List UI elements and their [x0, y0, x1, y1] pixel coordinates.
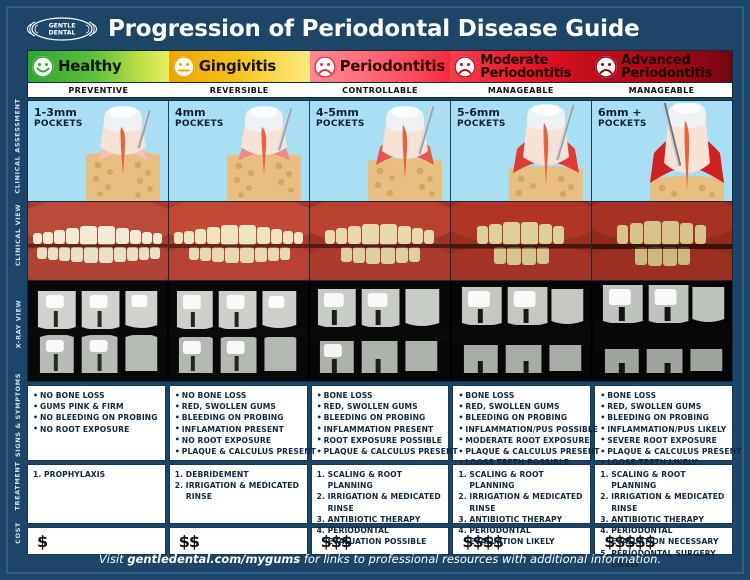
cost-value: $$	[179, 532, 199, 551]
pocket-depth-moderate: 5-6mm POCKETS	[457, 107, 506, 129]
curability-preventive: PREVENTIVE	[28, 83, 169, 97]
smiley-sad-icon	[454, 56, 476, 78]
pocket-depth-label: POCKETS	[457, 119, 506, 129]
treatment-healthy: Prophylaxis	[27, 464, 166, 524]
symptom-item: No bleeding on probing	[33, 412, 162, 423]
symptom-item: No bone loss	[33, 390, 162, 401]
footer-suffix: for links to professional resources with…	[300, 552, 661, 566]
treatment-item: Debridement	[175, 469, 304, 480]
xray-gingivitis	[169, 281, 310, 381]
stage-label-moderate-periodontitis: Moderate Periodontitis	[480, 54, 571, 80]
tooth-cross-section-diagram	[362, 103, 448, 201]
assessment-cell-advanced-periodontitis: 6mm + POCKETS	[592, 101, 732, 201]
treatment-item: Scaling & root planning	[600, 469, 729, 491]
smiley-neutral-icon	[173, 56, 195, 78]
symptom-item: Inflamation present	[175, 424, 304, 435]
symptoms-periodontitis: Bone lossRed, swollen gumsBleeding on pr…	[311, 385, 450, 461]
stage-header-row: Healthy Gingivitis	[27, 50, 733, 83]
clinical-photo-gingivitis	[169, 202, 310, 280]
symptom-item: Inflammation present	[317, 424, 446, 435]
symptom-item: Bone loss	[458, 390, 587, 401]
stage-header-advanced-periodontitis[interactable]: Advanced Periodontitis	[591, 51, 732, 82]
rail-label-clinical-assessment: CLINICAL ASSESSMENT	[8, 96, 28, 196]
treatment-row: Prophylaxis DebridementIrrigation & medi…	[27, 464, 733, 524]
footer-prefix: Visit	[99, 552, 127, 566]
treatment-item: Antibiotic therapy	[600, 514, 729, 525]
symptom-item: Bleeding on probing	[600, 412, 729, 423]
clinical-assessment-row: 1-3mm POCKETS	[27, 100, 733, 202]
xray-periodontitis	[310, 281, 451, 381]
pocket-depth-label: POCKETS	[175, 119, 224, 129]
assessment-cell-healthy: 1-3mm POCKETS	[28, 101, 169, 201]
symptom-item: Bleeding on probing	[317, 412, 446, 423]
footer: Visit gentledental.com/mygums for links …	[27, 550, 733, 568]
treatment-item: Periodontal evaluation NECESSARY	[600, 525, 729, 547]
symptom-item: No bone loss	[175, 390, 304, 401]
curability-controllable: CONTROLLABLE	[310, 83, 451, 97]
symptom-item: Inflammation/pus LIKELY	[600, 424, 729, 435]
curability-manageable-advanced: MANAGEABLE	[591, 83, 732, 97]
signs-symptoms-row: No bone lossGums pink & firmNo bleeding …	[27, 385, 733, 461]
symptom-item: No root exposure	[175, 435, 304, 446]
stage-label-healthy: Healthy	[58, 59, 122, 74]
assessment-cell-gingivitis: 4mm POCKETS	[169, 101, 310, 201]
symptom-item: Bleeding on probing	[175, 412, 304, 423]
cost-value: $	[37, 532, 47, 551]
stage-grid: Healthy Gingivitis	[27, 50, 733, 555]
treatment-item: Prophylaxis	[33, 469, 162, 480]
curability-reversible: REVERSIBLE	[169, 83, 310, 97]
treatment-item: Irrigation & medicated rinse	[175, 480, 304, 502]
symptoms-moderate-periodontitis: Bone lossRed, swollen gumsBleeding on pr…	[452, 385, 591, 461]
treatment-item: Irrigation & medicated rinse	[600, 491, 729, 513]
treatment-item: Antibiotic therapy	[317, 514, 446, 525]
logo-line1-text: GENTLE	[49, 23, 76, 30]
symptom-item: Red, swollen gums	[600, 401, 729, 412]
treatment-item: Irrigation & medicated rinse	[458, 491, 587, 513]
symptoms-advanced-periodontitis: Bone lossRed, swollen gumsBleeding on pr…	[594, 385, 733, 461]
symptom-item: Red, swollen gums	[175, 401, 304, 412]
pocket-depth-healthy: 1-3mm POCKETS	[34, 107, 83, 129]
infographic-poster: GENTLE DENTAL Progression of Periodontal…	[0, 0, 750, 580]
symptom-item: Loose teeth POSSIBLE	[458, 457, 587, 468]
stage-header-moderate-periodontitis[interactable]: Moderate Periodontitis	[450, 51, 591, 82]
clinical-photo-advanced-periodontitis	[592, 202, 732, 280]
pocket-depth-gingivitis: 4mm POCKETS	[175, 107, 224, 129]
treatment-gingivitis: DebridementIrrigation & medicated rinse	[169, 464, 308, 524]
rail-label-cost: COST	[8, 519, 28, 547]
symptom-item: No root exposure	[33, 424, 162, 435]
tooth-cross-section-diagram	[221, 103, 307, 201]
xray-view-row	[27, 281, 733, 382]
rail-label-clinical-view: CLINICAL VIEW	[8, 196, 28, 274]
rail-label-signs-symptoms: SIGNS & SYMPTOMS	[8, 377, 28, 453]
pocket-depth-value: 4-5mm	[316, 107, 365, 119]
curability-row: PREVENTIVE REVERSIBLE CONTROLLABLE MANAG…	[27, 83, 733, 98]
stage-label-periodontitis: Periodontitis	[340, 59, 445, 74]
treatment-item: Scaling & root planning	[458, 469, 587, 491]
treatment-periodontitis: Scaling & root planningIrrigation & medi…	[311, 464, 450, 524]
xray-advanced-periodontitis	[593, 281, 732, 381]
footer-text: Visit gentledental.com/mygums for links …	[99, 552, 661, 566]
treatment-moderate-periodontitis: Scaling & root planningIrrigation & medi…	[452, 464, 591, 524]
pocket-depth-advanced: 6mm + POCKETS	[598, 107, 647, 129]
stage-header-periodontitis[interactable]: Periodontitis	[310, 51, 451, 82]
symptom-item: Root exposure POSSIBLE	[317, 435, 446, 446]
symptom-item: Loose teeth LIKELY	[600, 457, 729, 468]
pocket-depth-value: 5-6mm	[457, 107, 506, 119]
stage-header-healthy[interactable]: Healthy	[28, 51, 169, 82]
pocket-depth-periodontitis: 4-5mm POCKETS	[316, 107, 365, 129]
assessment-cell-periodontitis: 4-5mm POCKETS	[310, 101, 451, 201]
tooth-cross-section-diagram	[644, 103, 730, 201]
symptom-item: Bone loss	[317, 390, 446, 401]
stage-header-gingivitis[interactable]: Gingivitis	[169, 51, 310, 82]
pocket-depth-label: POCKETS	[316, 119, 365, 129]
rail-label-xray-view: X-RAY VIEW	[8, 274, 28, 374]
symptom-item: Plaque & calculus present	[175, 446, 304, 457]
pocket-depth-value: 1-3mm	[34, 107, 83, 119]
treatment-item: Scaling & root planning	[317, 469, 446, 491]
symptom-item: SEVERE root exposure	[600, 435, 729, 446]
smiley-sad-icon	[595, 56, 617, 78]
symptom-item: Bleeding on probing	[458, 412, 587, 423]
symptoms-gingivitis: No bone lossRed, swollen gumsBleeding on…	[169, 385, 308, 461]
rail-label-treatment: TREATMENT	[8, 456, 28, 516]
treatment-advanced-periodontitis: Scaling & root planningIrrigation & medi…	[594, 464, 733, 524]
tooth-cross-section-diagram	[503, 103, 589, 201]
curability-manageable-moderate: MANAGEABLE	[450, 83, 591, 97]
treatment-item: Antibiotic therapy	[458, 514, 587, 525]
footer-url[interactable]: gentledental.com/mygums	[127, 552, 300, 566]
symptom-item: Red, swollen gums	[317, 401, 446, 412]
pocket-depth-value: 4mm	[175, 107, 224, 119]
stage-label-gingivitis: Gingivitis	[199, 59, 276, 74]
gentle-dental-logo: GENTLE DENTAL	[24, 12, 100, 46]
pocket-depth-label: POCKETS	[34, 119, 83, 129]
symptom-item: Plaque & calculus present	[600, 446, 729, 457]
xray-moderate-periodontitis	[452, 281, 593, 381]
page-title: Progression of Periodontal Disease Guide	[108, 16, 639, 42]
clinical-view-row	[27, 202, 733, 281]
clinical-photo-moderate-periodontitis	[451, 202, 592, 280]
assessment-cell-moderate-periodontitis: 5-6mm POCKETS	[451, 101, 592, 201]
symptom-item: Gums pink & firm	[33, 401, 162, 412]
pocket-depth-label: POCKETS	[598, 119, 647, 129]
symptom-item: MODERATE root exposure	[458, 435, 587, 446]
smiley-sad-icon	[314, 56, 336, 78]
pocket-depth-value: 6mm +	[598, 107, 647, 119]
tooth-cross-section-diagram	[80, 103, 166, 201]
symptom-item: Inflammation/pus POSSIBLE	[458, 424, 587, 435]
treatment-item: Periodontal evaluation POSSIBLE	[317, 525, 446, 547]
symptom-item: Plaque & calculus present	[317, 446, 446, 457]
stage-label-advanced-periodontitis: Advanced Periodontitis	[621, 54, 712, 80]
poster-header: GENTLE DENTAL Progression of Periodontal…	[24, 10, 734, 48]
logo-line2-text: DENTAL	[48, 30, 75, 37]
symptom-item: Plaque & calculus present	[458, 446, 587, 457]
symptoms-healthy: No bone lossGums pink & firmNo bleeding …	[27, 385, 166, 461]
treatment-item: Periodontal evaluation LIKELY	[458, 525, 587, 547]
xray-healthy	[28, 281, 169, 381]
symptom-item: Bone loss	[600, 390, 729, 401]
symptom-item: Red, swollen gums	[458, 401, 587, 412]
clinical-photo-healthy	[28, 202, 169, 280]
treatment-item: Irrigation & medicated rinse	[317, 491, 446, 513]
smiley-happy-icon	[32, 56, 54, 78]
clinical-photo-periodontitis	[310, 202, 451, 280]
